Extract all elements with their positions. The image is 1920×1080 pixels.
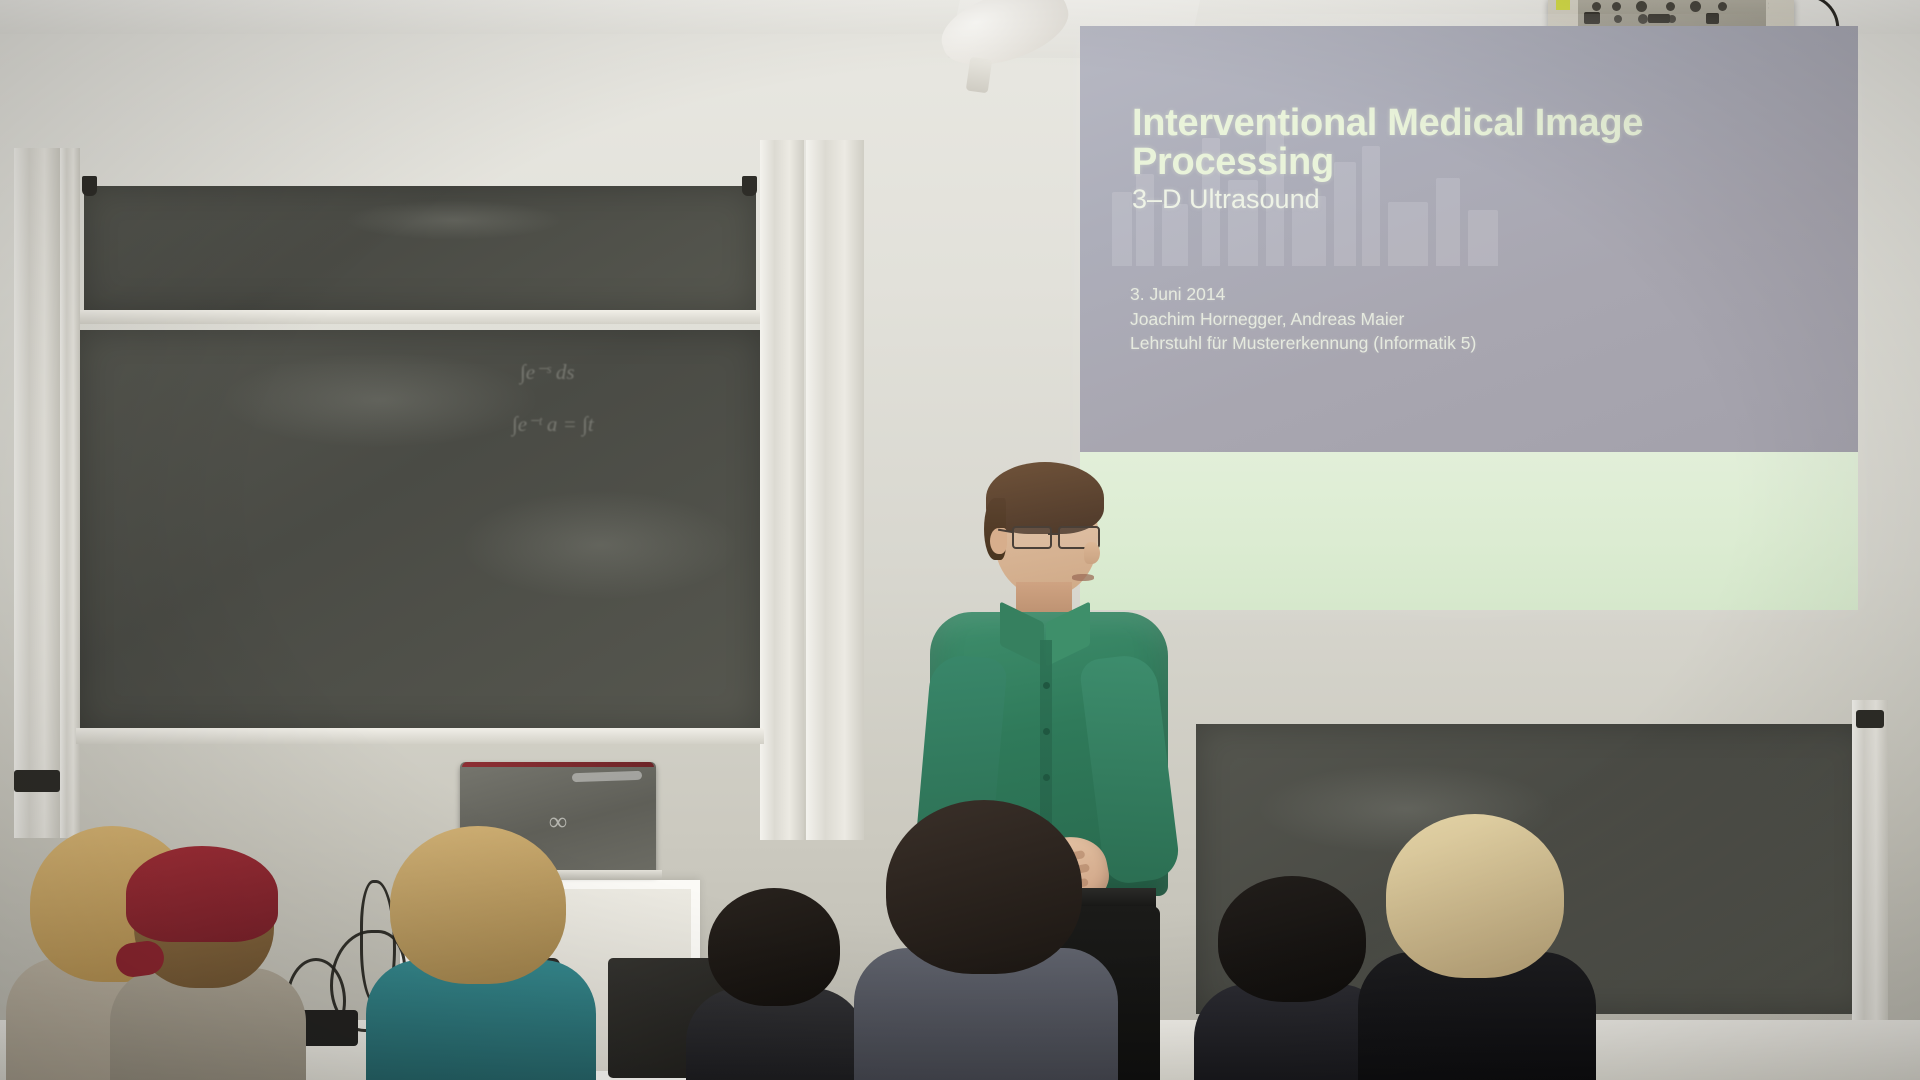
student-head (886, 800, 1082, 974)
lecture-hall-scene: Interventional Medical Image Processing … (0, 0, 1920, 1080)
blackboard-rail-left (14, 148, 60, 838)
slide-authors: Joachim Hornegger, Andreas Maier (1130, 307, 1730, 332)
board-handle-left (14, 770, 60, 792)
chalk-note-2: ∫e⁻ᵗ a = ∫t (512, 412, 594, 437)
audience-member-dark-right (1210, 868, 1378, 1080)
audience-member-blonde-black (1380, 802, 1574, 1080)
blackboard-rail-mid (760, 140, 804, 840)
board-handle-right (1856, 710, 1884, 728)
audience-member-teal-sweater (386, 812, 578, 1080)
blackboard-rail-right (1852, 700, 1888, 1040)
student-red-cap (126, 846, 278, 942)
slide-title: Interventional Medical Image Processing (1132, 104, 1692, 182)
student-head (1218, 876, 1366, 1002)
audience-member-dark-front (700, 880, 852, 1080)
lecturer-mouth (1072, 574, 1094, 581)
board-clip-upper-left (82, 176, 97, 196)
slide-footer-band: FRIEDRICH-ALEXANDER UNIVERSITÄT ERLANGEN… (1080, 452, 1858, 610)
projected-slide: Interventional Medical Image Processing … (1080, 26, 1858, 610)
lecturer-nose (1084, 542, 1100, 564)
slide-affiliation: Lehrstuhl für Mustererkennung (Informati… (1130, 331, 1730, 356)
shirt-button-1 (1043, 682, 1050, 689)
lecturer-glasses (1012, 526, 1098, 545)
main-board-lip (76, 728, 764, 744)
ceiling-pipe-drop (966, 57, 993, 94)
glasses-lens-left (1012, 526, 1052, 549)
slide-metadata-block: 3. Juni 2014 Joachim Hornegger, Andreas … (1130, 282, 1730, 356)
slide-date: 3. Juni 2014 (1130, 282, 1730, 307)
main-left-blackboard: ∫e⁻ˢ ds ∫e⁻ᵗ a = ∫t (80, 330, 760, 730)
student-head (1386, 814, 1564, 978)
student-head (390, 826, 566, 984)
projector-label-tag (1556, 0, 1570, 10)
slide-title-line2: Processing (1132, 143, 1692, 182)
slide-subtitle: 3–D Ultrasound (1132, 184, 1692, 215)
shirt-button-3 (1043, 774, 1050, 781)
projector-port-panel (1578, 0, 1766, 26)
blackboard-rail-mid-outer (806, 140, 864, 840)
audience-member-grey-shirt (880, 790, 1092, 1080)
slide-title-line1: Interventional Medical Image (1132, 104, 1692, 143)
student-head (708, 888, 840, 1006)
audience-member-red-cap (120, 840, 288, 1080)
glasses-bridge (1048, 533, 1060, 535)
upper-left-blackboard (84, 186, 756, 312)
slide-main-panel: Interventional Medical Image Processing … (1080, 26, 1858, 452)
upper-board-lip (80, 310, 760, 324)
board-clip-upper-right (742, 176, 757, 196)
shirt-button-2 (1043, 728, 1050, 735)
chalk-note-1: ∫e⁻ˢ ds (520, 360, 575, 385)
laptop-accent-strip (462, 762, 654, 767)
